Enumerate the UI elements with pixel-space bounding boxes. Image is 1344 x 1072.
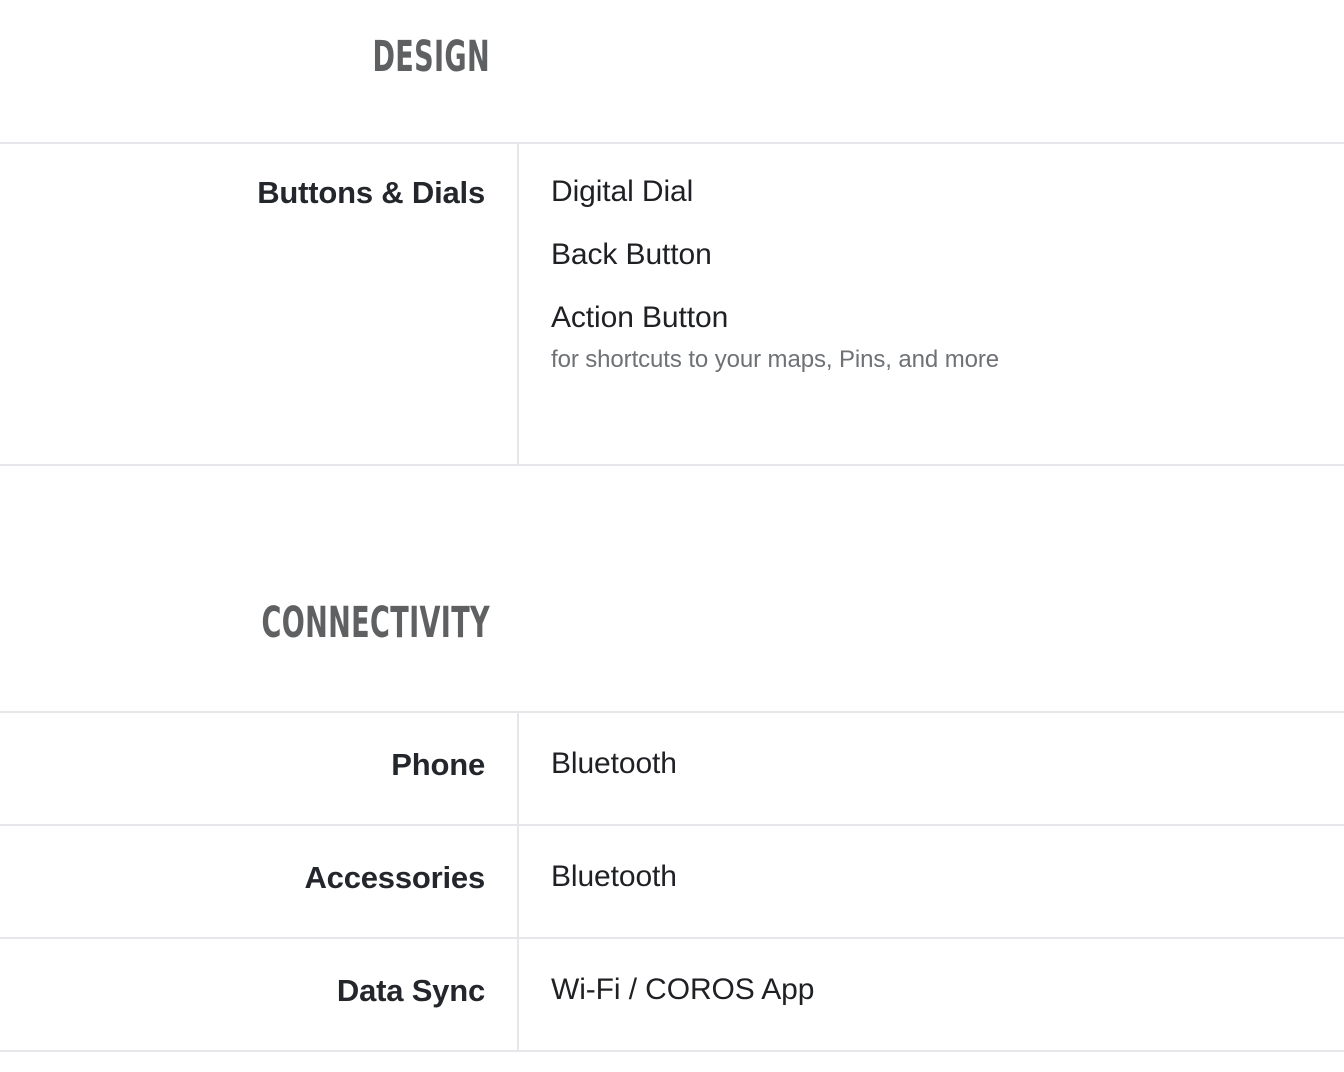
spec-table-design: Buttons & Dials Digital Dial Back Button… [0,142,1344,466]
spec-label-buttons-and-dials: Buttons & Dials [0,144,519,464]
spec-value-buttons-and-dials: Digital Dial Back Button Action Button f… [519,144,1344,464]
spec-value-line: Back Button [551,237,1312,273]
spec-label-phone: Phone [0,713,519,824]
spec-value-line: Digital Dial [551,174,1312,210]
table-row: Data Sync Wi-Fi / COROS App [0,937,1344,1052]
section-heading-design: DESIGN [147,36,490,79]
spec-value-line: Action Button [551,300,1312,336]
table-row: Phone Bluetooth [0,711,1344,824]
spec-table-connectivity: Phone Bluetooth Accessories Bluetooth Da… [0,711,1344,1052]
table-row: Buttons & Dials Digital Dial Back Button… [0,142,1344,466]
spec-label-data-sync: Data Sync [0,939,519,1050]
spec-sheet-page: DESIGN Buttons & Dials Digital Dial Back… [0,0,1344,1072]
spec-value-line: Wi-Fi / COROS App [551,972,1312,1008]
section-heading-design-wrap: DESIGN [0,36,490,79]
spec-value-caption: for shortcuts to your maps, Pins, and mo… [551,344,1312,375]
spec-value-phone: Bluetooth [519,713,1344,824]
spec-value-data-sync: Wi-Fi / COROS App [519,939,1344,1050]
table-row: Accessories Bluetooth [0,824,1344,937]
spec-value-line: Bluetooth [551,746,1312,782]
section-heading-connectivity: CONNECTIVITY [147,602,490,645]
spec-value-accessories: Bluetooth [519,826,1344,937]
spec-value-line: Bluetooth [551,859,1312,895]
section-heading-connectivity-wrap: CONNECTIVITY [0,602,490,645]
spec-label-accessories: Accessories [0,826,519,937]
